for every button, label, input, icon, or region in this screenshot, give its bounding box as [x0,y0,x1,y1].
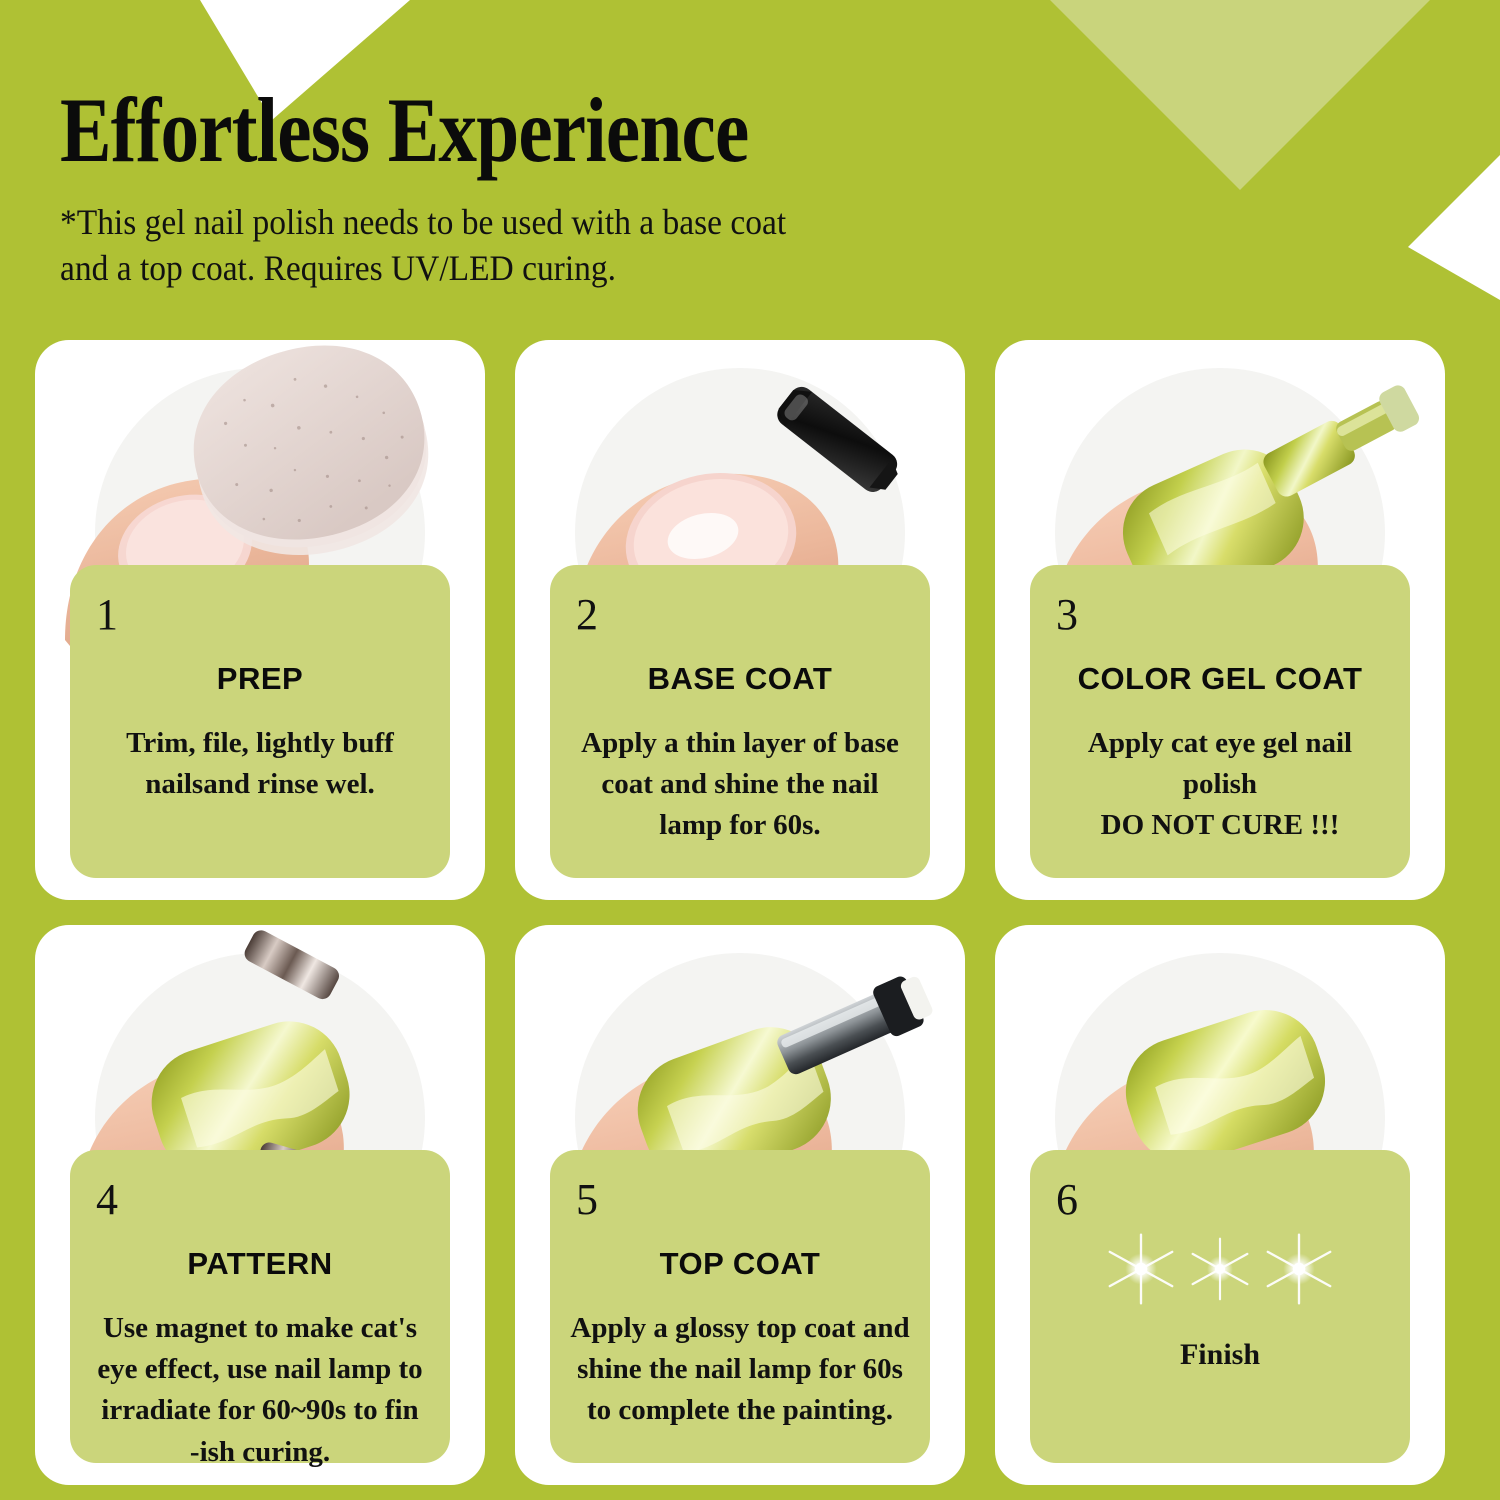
step-title: BASE COAT [568,661,912,697]
step-title: PREP [88,661,432,697]
step-description: Apply a thin layer of base coat and shin… [568,723,912,847]
step-panel: 3 COLOR GEL COAT Apply cat eye gel nail … [1030,565,1410,878]
step-number: 3 [1056,593,1078,637]
step-title: PATTERN [88,1246,432,1282]
step-description: Apply cat eye gel nail polish DO NOT CUR… [1048,723,1392,847]
step-number: 2 [576,593,598,637]
step-card-2[interactable]: 2 BASE COAT Apply a thin layer of base c… [515,340,965,900]
step-card-5[interactable]: 5 TOP COAT Apply a glossy top coat and s… [515,925,965,1485]
step-panel: 4 PATTERN Use magnet to make cat's eye e… [70,1150,450,1463]
step-card-1[interactable]: 1 PREP Trim, file, lightly buff nailsand… [35,340,485,900]
page-subtitle: *This gel nail polish needs to be used w… [60,199,1176,291]
page-title: Effortless Experience [60,85,1068,175]
step-panel: 1 PREP Trim, file, lightly buff nailsand… [70,565,450,878]
step-panel: 2 BASE COAT Apply a thin layer of base c… [550,565,930,878]
step-card-6[interactable]: 6 [995,925,1445,1485]
steps-grid: 1 PREP Trim, file, lightly buff nailsand… [35,340,1465,1485]
step-number: 4 [96,1178,118,1222]
step-number: 1 [96,593,118,637]
step-panel: 5 TOP COAT Apply a glossy top coat and s… [550,1150,930,1463]
step-number: 5 [576,1178,598,1222]
step-panel: 6 [1030,1150,1410,1463]
sparkle-icon [1260,1230,1338,1308]
step-title: COLOR GEL COAT [1048,661,1392,697]
step-number: 6 [1056,1178,1078,1222]
step-description: Finish [1030,1338,1410,1372]
sparkle-icon [1102,1230,1180,1308]
step-card-4[interactable]: 4 PATTERN Use magnet to make cat's eye e… [35,925,485,1485]
sparkle-icons [1030,1224,1410,1314]
white-arrow-notch [1408,155,1500,300]
sparkle-icon [1184,1233,1256,1305]
step-title: TOP COAT [568,1246,912,1282]
step-description: Apply a glossy top coat and shine the na… [568,1308,912,1432]
step-card-3[interactable]: 3 COLOR GEL COAT Apply cat eye gel nail … [995,340,1445,900]
step-description: Use magnet to make cat's eye effect, use… [88,1308,432,1473]
header: Effortless Experience *This gel nail pol… [60,85,1260,291]
step-description: Trim, file, lightly buff nailsand rinse … [88,723,432,805]
